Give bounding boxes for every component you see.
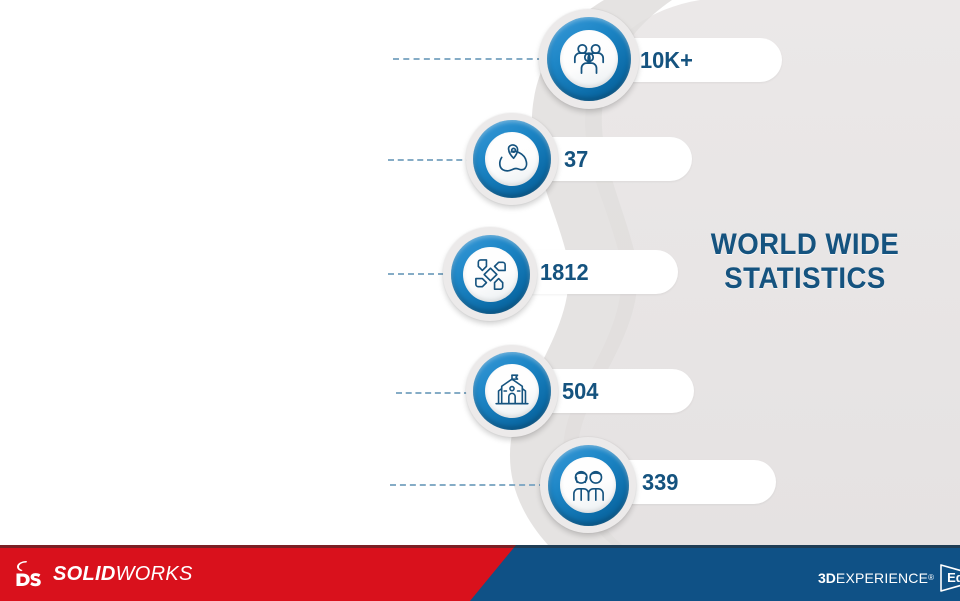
stat-badge-participants[interactable]: [539, 9, 639, 109]
stat-value-colleges: 504: [562, 380, 598, 403]
slide-canvas: WORLD WIDE STATISTICS Participants 10K+: [0, 0, 960, 601]
page-title: WORLD WIDE STATISTICS: [672, 228, 939, 296]
stat-badge-countries[interactable]: [466, 113, 558, 205]
connector-line-participants: [393, 58, 543, 60]
edu-label: Edu: [947, 571, 960, 584]
stat-value-all-girls-teams: 339: [642, 471, 678, 494]
edu-badge: Edu: [938, 563, 960, 593]
solidworks-wordmark: SOLIDWORKS: [53, 564, 193, 584]
connector-line-all-girls-teams: [390, 484, 545, 486]
connector-line-colleges: [396, 392, 470, 394]
solidworks-bold-part: SOLID: [53, 563, 116, 585]
stat-value-countries: 37: [564, 148, 588, 171]
ds-logo-icon: [14, 561, 44, 587]
stat-value-teams: 1812: [540, 261, 589, 284]
brand-3d-text: 3D: [818, 571, 836, 585]
teamwork-hands-icon: [471, 255, 510, 294]
solidworks-light-part: WORKS: [116, 563, 193, 585]
title-line-2: STATISTICS: [672, 262, 939, 296]
stat-badge-all-girls-teams[interactable]: [540, 437, 636, 533]
connector-line-countries: [388, 159, 472, 161]
two-girls-icon: [569, 466, 608, 505]
stat-badge-teams[interactable]: [443, 227, 537, 321]
group-people-icon: [569, 39, 609, 79]
map-location-pin-icon: [493, 140, 531, 178]
connector-line-teams: [388, 273, 444, 275]
3dexperience-edu-logo: 3DEXPERIENCE® Edu: [818, 563, 960, 593]
brand-experience-text: EXPERIENCE: [836, 571, 928, 585]
registered-mark: ®: [928, 571, 934, 585]
stat-value-participants: 10K+: [640, 49, 693, 72]
solidworks-logo: SOLIDWORKS: [14, 561, 193, 587]
title-line-1: WORLD WIDE: [711, 228, 900, 261]
stat-badge-colleges[interactable]: [466, 345, 558, 437]
school-building-icon: [493, 372, 531, 410]
